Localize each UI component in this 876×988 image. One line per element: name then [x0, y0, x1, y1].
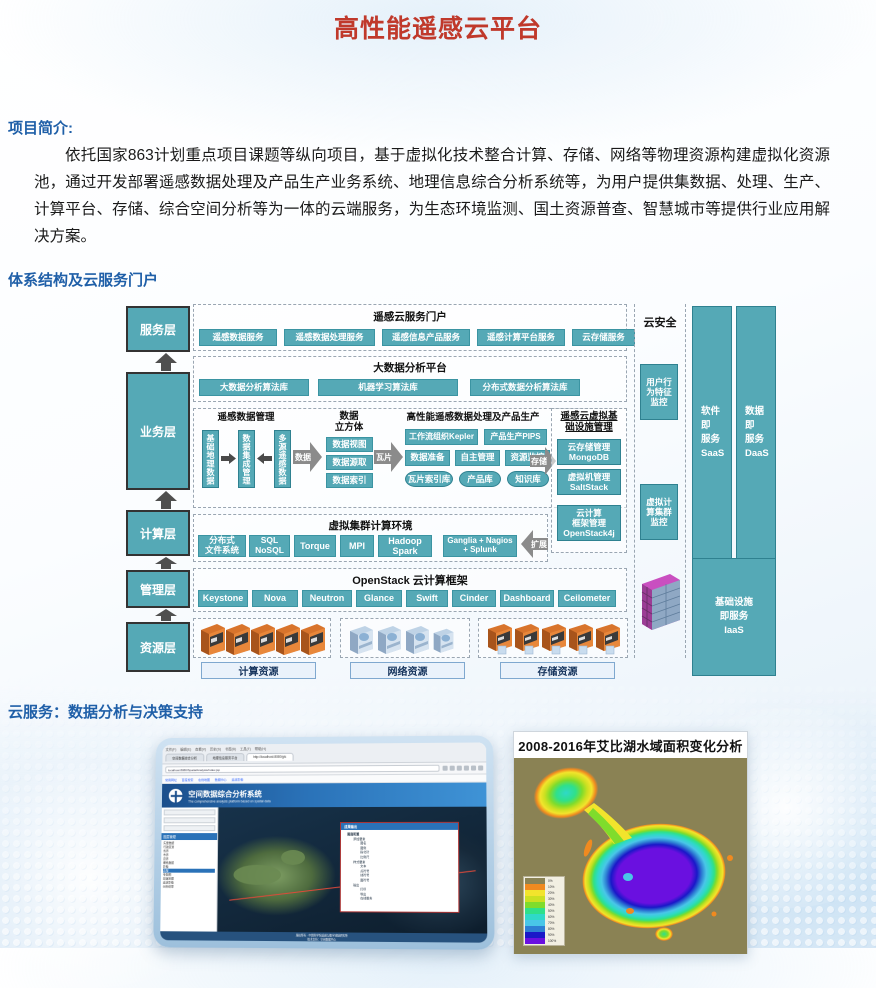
flow-arrow-data-label: 数据	[293, 442, 322, 472]
layer-business: 业务层	[126, 372, 190, 490]
app-logo-icon	[168, 788, 184, 804]
portal-item-2[interactable]: 遥感信息产品服务	[382, 329, 470, 346]
openstack-item-1[interactable]: Nova	[252, 590, 298, 607]
bigdata-item-0[interactable]: 大数据分析算法库	[199, 379, 309, 396]
legend-swatch	[525, 938, 545, 944]
cluster-item-4[interactable]: Hadoop Spark	[378, 535, 432, 557]
openstack-item-7[interactable]: Ceilometer	[558, 590, 616, 607]
page-title: 高性能遥感云平台	[0, 0, 876, 45]
service-model-saas[interactable]: 软件 即 服务 SaaS	[692, 306, 732, 560]
app-sidebar: 图层管理 矢量数据 行政区划 省界 市界 县界 栅格数据 影像 高程 专题图 基…	[160, 807, 218, 931]
browser-tab-active[interactable]: http://localhost:8080/gis	[246, 753, 293, 761]
arrow-right-icon	[221, 453, 236, 464]
legend-label: 90%	[545, 933, 554, 937]
bigdata-item-2[interactable]: 分布式数据分析算法库	[470, 379, 580, 396]
portal-item-1[interactable]: 遥感数据处理服务	[284, 329, 375, 346]
flow-arrow-tile: 瓦片	[374, 442, 403, 472]
browser-menu-item[interactable]: 查看(V)	[195, 747, 206, 752]
cluster-item-2[interactable]: Torque	[294, 535, 336, 557]
cloud-service-heading: 云服务：数据分析与决策支持	[0, 701, 876, 722]
cluster-item-0[interactable]: 分布式 文件系统	[198, 535, 246, 557]
hpc-r2-0[interactable]: 数据准备	[405, 450, 450, 466]
browser-toolbar-icons	[443, 765, 484, 770]
bookmark-item[interactable]: 遥感影像	[231, 777, 243, 781]
security-item-0[interactable]: 用户行 为特征 监控	[640, 364, 678, 420]
service-model-daas[interactable]: 数据 即 服务 DaaS	[736, 306, 776, 560]
filter-control[interactable]	[164, 825, 216, 831]
cluster-item-3[interactable]: MPI	[340, 535, 374, 557]
cluster-item-1[interactable]: SQL NoSQL	[249, 535, 290, 557]
openstack-item-2[interactable]: Neutron	[302, 590, 352, 607]
layer-service: 服务层	[126, 306, 190, 352]
legend-label: 10%	[545, 885, 554, 889]
data-mgmt-item-1[interactable]: 数据集成管理	[238, 430, 255, 488]
hpc-db-1[interactable]: 产品库	[459, 471, 501, 487]
legend-label: 0%	[545, 879, 553, 883]
browser-menu-item[interactable]: 书签(B)	[225, 746, 236, 751]
hpc-r1-1[interactable]: 产品生产PIPS	[484, 429, 547, 445]
openstack-item-0[interactable]: Keystone	[198, 590, 248, 607]
laptop-screen: 文件(F) 编辑(E) 查看(V) 历史(S) 书签(B) 工具(T) 帮助(H…	[160, 742, 487, 942]
hpc-r1-0[interactable]: 工作流组织Kepler	[405, 429, 478, 445]
hpc-db-0[interactable]: 瓦片索引库	[405, 471, 453, 487]
lake-analysis-image: 0% 10% 20% 30% 40% 50% 60% 70% 80% 90% 1…	[514, 758, 747, 954]
app-body: 图层管理 矢量数据 行政区划 省界 市界 县界 栅格数据 影像 高程 专题图 基…	[160, 807, 487, 934]
app-banner: 空间数据综合分析系统 The comprehensive analysis pl…	[162, 783, 487, 808]
legend-row: 100%	[525, 938, 563, 944]
bookmark-item[interactable]: 数据中心	[215, 777, 227, 781]
cube-item-2[interactable]: 数据索引	[326, 473, 373, 488]
portal-item-3[interactable]: 遥感计算平台服务	[477, 329, 565, 346]
browser-tab[interactable]: 空间数据综合分析	[165, 753, 203, 761]
lake-legend: 0% 10% 20% 30% 40% 50% 60% 70% 80% 90% 1…	[523, 876, 565, 946]
cube-title: 数据 立方体	[324, 412, 374, 434]
portal-item-0[interactable]: 遥感数据服务	[199, 329, 277, 346]
openstack-item-6[interactable]: Dashboard	[500, 590, 554, 607]
browser-menu-item[interactable]: 编辑(E)	[180, 747, 191, 752]
layer-tree: 矢量数据 行政区划 省界 市界 县界 栅格数据 影像 高程 专题图 基础地理 遥…	[161, 840, 217, 890]
layer-resource: 资源层	[126, 622, 190, 672]
gallery: 文件(F) 编辑(E) 查看(V) 历史(S) 书签(B) 工具(T) 帮助(H…	[0, 730, 876, 980]
resource-label-compute: 计算资源	[201, 662, 316, 679]
arrow-up-icon	[154, 490, 178, 510]
layer-compute: 计算层	[126, 510, 190, 556]
layer-manage: 管理层	[126, 570, 190, 608]
service-model-iaas[interactable]: 基础设施 即服务 IaaS	[692, 558, 776, 676]
portal-item-4[interactable]: 云存储服务	[572, 329, 635, 346]
address-input[interactable]: localhost:8080/SpatialAnalysis/index.jsp	[165, 765, 439, 773]
openstack-item-5[interactable]: Cinder	[452, 590, 496, 607]
cluster-item-5[interactable]: Ganglia + Nagios + Splunk	[443, 535, 517, 557]
flow-arrow-extend: 扩展	[521, 530, 548, 558]
data-mgmt-item-0[interactable]: 基础地理数据	[202, 430, 219, 488]
map-canvas[interactable]: 成果输出 图面配置 添加要素 图名 图例 指北针 比例尺 样式要素 文本 点符号	[217, 807, 487, 934]
security-title: 云安全	[634, 314, 686, 330]
storage-array-icon	[485, 622, 623, 660]
bookmark-item[interactable]: 在线地图	[198, 777, 210, 781]
security-item-1[interactable]: 虚拟计 算集群 监控	[640, 484, 678, 540]
browser-chrome: 文件(F) 编辑(E) 查看(V) 历史(S) 书签(B) 工具(T) 帮助(H…	[162, 742, 486, 764]
legend-label: 20%	[545, 891, 554, 895]
lake-analysis-card: 2008-2016年艾比湖水域面积变化分析	[513, 731, 748, 954]
toolbar-icon[interactable]	[464, 766, 469, 771]
firewall-brick-icon	[638, 572, 682, 635]
toolbar-icon[interactable]	[450, 766, 455, 771]
virtual-infra-item-2[interactable]: 云计算 框架管理 OpenStack4j	[557, 505, 621, 541]
toolbar-icon[interactable]	[471, 766, 476, 771]
layer-tree-header: 图层管理	[161, 833, 217, 840]
data-mgmt-title: 遥感数据管理	[197, 413, 295, 424]
output-popup-list: 图面配置 添加要素 图名 图例 指北针 比例尺 样式要素 文本 点符号 线符号	[341, 830, 458, 904]
browser-menu-item[interactable]: 历史(S)	[210, 746, 221, 751]
arrow-left-icon	[257, 453, 272, 464]
virtual-infra-title: 遥感云虚拟基 础设施管理	[552, 412, 626, 434]
bigdata-title: 大数据分析平台	[193, 360, 627, 375]
footer-line-2: 技术支持：空间数据中心	[307, 937, 336, 941]
legend-label: 50%	[545, 909, 554, 913]
legend-label: 70%	[545, 921, 554, 925]
browser-menu-item[interactable]: 工具(T)	[240, 746, 251, 751]
bookmark-item[interactable]: 常用网址	[165, 778, 177, 782]
portal-title: 遥感云服务门户	[193, 309, 627, 324]
browser-menu-item[interactable]: 文件(F)	[166, 747, 177, 752]
browser-tabs: 空间数据综合分析 地理信息服务平台 http://localhost:8080/…	[165, 751, 483, 761]
legend-label: 30%	[545, 897, 554, 901]
openstack-title: OpenStack 云计算框架	[193, 572, 627, 588]
architecture-heading: 体系结构及云服务门户	[0, 269, 876, 290]
hpc-r2-1[interactable]: 自主管理	[455, 450, 500, 466]
toolbar-icon[interactable]	[443, 766, 448, 771]
legend-label: 80%	[545, 927, 554, 931]
resource-label-network: 网络资源	[350, 662, 465, 679]
bookmark-item[interactable]: 百度搜索	[182, 777, 194, 781]
map-landmass	[281, 849, 305, 864]
cube-item-0[interactable]: 数据视图	[326, 437, 373, 452]
legend-label: 40%	[545, 903, 554, 907]
intro-body: 依托国家863计划重点项目课题等纵向项目，基于虚拟化技术整合计算、存储、网络等物…	[0, 138, 876, 250]
virtual-infra-item-1[interactable]: 虚拟机管理 SaltStack	[557, 469, 621, 495]
cluster-title: 虚拟集群计算环境	[193, 518, 548, 533]
openstack-item-3[interactable]: Glance	[356, 590, 402, 607]
bigdata-item-1[interactable]: 机器学习算法库	[318, 379, 458, 396]
toolbar-icon[interactable]	[478, 765, 483, 770]
intro-heading: 项目简介:	[0, 117, 876, 138]
tree-item[interactable]: 分析结果	[163, 885, 215, 889]
app-name: 空间数据综合分析系统	[188, 788, 270, 799]
lake-analysis-title: 2008-2016年艾比湖水域面积变化分析	[514, 732, 747, 758]
network-switch-icon	[348, 624, 460, 659]
list-item[interactable]: 在线服务	[345, 897, 454, 902]
laptop-mockup: 文件(F) 编辑(E) 查看(V) 历史(S) 书签(B) 工具(T) 帮助(H…	[153, 735, 494, 950]
map-landmass	[234, 864, 282, 884]
toolbar-icon[interactable]	[457, 766, 462, 771]
browser-tab[interactable]: 地理信息服务平台	[206, 753, 245, 761]
filter-control[interactable]	[164, 817, 216, 823]
virtual-infra-item-0[interactable]: 云存储管理 MongoDB	[557, 439, 621, 465]
arrow-up-icon	[154, 352, 178, 372]
browser-menu-item[interactable]: 帮助(H)	[255, 746, 266, 751]
flow-arrow-extend-label: 扩展	[521, 530, 548, 558]
data-mgmt-item-2[interactable]: 多源遥感数据	[274, 430, 291, 488]
cube-item-1[interactable]: 数据源取	[326, 455, 373, 470]
openstack-item-4[interactable]: Swift	[406, 590, 448, 607]
arrow-up-icon	[154, 556, 178, 570]
server-rack-orange-icon	[198, 622, 326, 660]
arrow-up-icon	[154, 608, 178, 622]
resource-label-storage: 存储资源	[500, 662, 615, 679]
legend-label: 100%	[545, 939, 556, 943]
browser-menu-bar: 文件(F) 编辑(E) 查看(V) 历史(S) 书签(B) 工具(T) 帮助(H…	[166, 744, 484, 751]
output-popup[interactable]: 成果输出 图面配置 添加要素 图名 图例 指北针 比例尺 样式要素 文本 点符号	[340, 822, 460, 913]
flow-arrow-data: 数据	[293, 442, 322, 472]
app-subtitle: The comprehensive analysis platform base…	[188, 799, 270, 803]
legend-label: 60%	[545, 915, 554, 919]
hpc-title: 高性能遥感数据处理及产品生产	[403, 413, 543, 424]
filter-control[interactable]	[164, 809, 216, 815]
flow-arrow-tile-label: 瓦片	[374, 442, 403, 472]
